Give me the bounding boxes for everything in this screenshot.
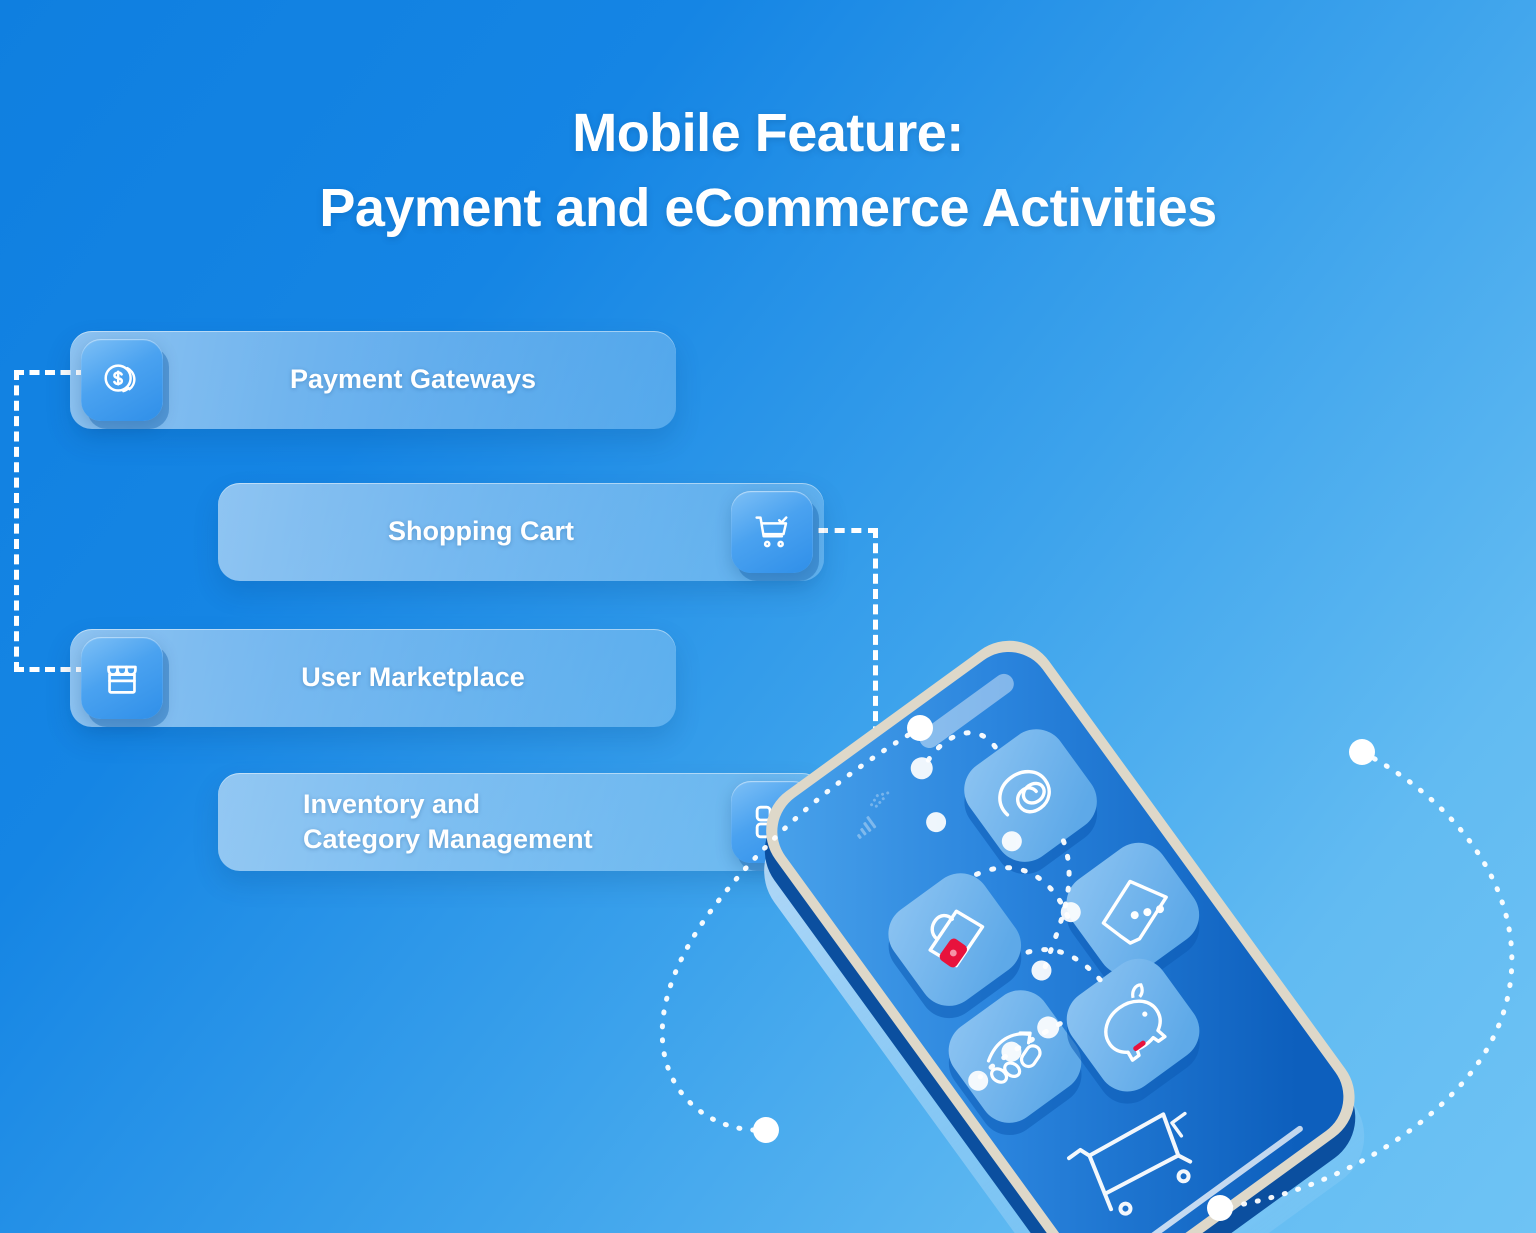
infographic-canvas: Mobile Feature: Payment and eCommerce Ac… [0, 0, 1536, 1233]
bracket-top-line [818, 528, 878, 533]
feature-card-label: User Marketplace [70, 660, 676, 695]
isometric-smartphone-illustration [620, 690, 1536, 1233]
feature-card-shopping-cart[interactable]: Shopping Cart [218, 483, 824, 581]
phone-screen [761, 635, 1360, 1233]
feature-card-label: Payment Gateways [70, 362, 676, 397]
feature-card-payment-gateways[interactable]: Payment Gateways [70, 331, 676, 429]
bracket-vertical-line [14, 370, 19, 672]
title-line-1: Mobile Feature: [0, 96, 1536, 171]
feature-card-user-marketplace[interactable]: User Marketplace [70, 629, 676, 727]
shopping-cart-check-icon [731, 491, 813, 573]
title-line-2: Payment and eCommerce Activities [0, 171, 1536, 246]
page-title: Mobile Feature: Payment and eCommerce Ac… [0, 96, 1536, 245]
